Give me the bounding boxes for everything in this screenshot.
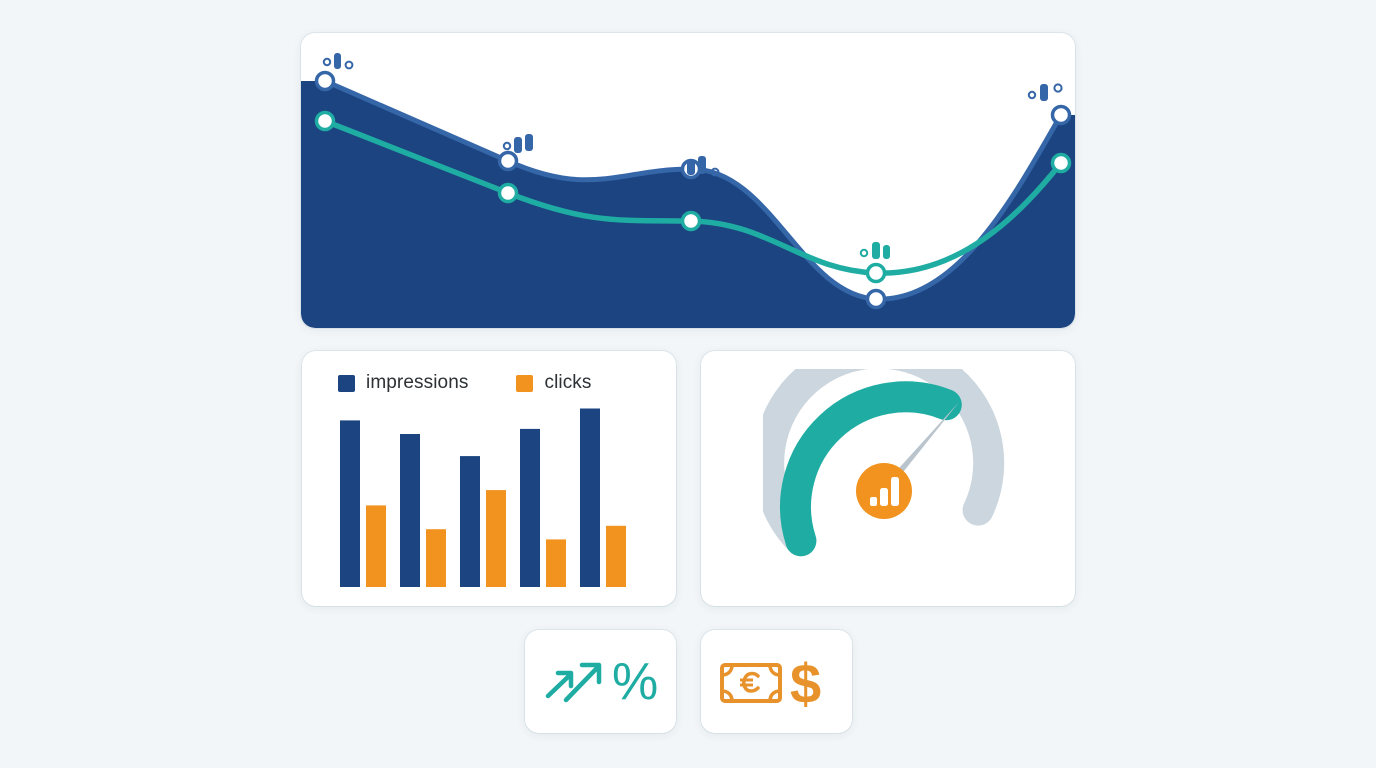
point-badge-5 bbox=[1029, 84, 1062, 101]
data-point-impressions-4[interactable] bbox=[868, 291, 885, 308]
performance-gauge-card[interactable] bbox=[701, 351, 1075, 606]
revenue-card[interactable]: $ bbox=[701, 630, 852, 733]
dollar-sign-icon: $ bbox=[790, 652, 821, 713]
traffic-trend-area-chart-card[interactable] bbox=[301, 33, 1075, 328]
area-series-impressions bbox=[301, 81, 1075, 328]
revenue-icons: $ bbox=[718, 651, 836, 713]
data-point-impressions-2[interactable] bbox=[500, 153, 517, 170]
point-badge-2 bbox=[504, 134, 533, 153]
conversion-rate-icons: % bbox=[542, 651, 660, 713]
euro-banknote-icon bbox=[722, 665, 780, 701]
data-point-clicks-2[interactable] bbox=[500, 185, 517, 202]
bar-impressions-4[interactable] bbox=[520, 429, 540, 587]
impressions-clicks-bar-chart-card[interactable]: impressions clicks bbox=[302, 351, 676, 606]
data-point-clicks-4[interactable] bbox=[868, 265, 885, 282]
point-badge-1 bbox=[324, 53, 353, 69]
bar-clicks-5[interactable] bbox=[606, 526, 626, 587]
bar-clicks-4[interactable] bbox=[546, 539, 566, 587]
data-point-clicks-1[interactable] bbox=[317, 113, 334, 130]
data-point-clicks-3[interactable] bbox=[683, 213, 700, 230]
bar-impressions-1[interactable] bbox=[340, 420, 360, 587]
dashboard-stage: impressions clicks bbox=[0, 0, 1376, 768]
point-badge-4 bbox=[861, 242, 890, 259]
conversion-rate-card[interactable]: % bbox=[525, 630, 676, 733]
bar-clicks-1[interactable] bbox=[366, 505, 386, 587]
bar-chart-plot bbox=[302, 351, 676, 606]
percent-icon: % bbox=[612, 653, 658, 711]
bar-impressions-2[interactable] bbox=[400, 434, 420, 587]
bar-impressions-5[interactable] bbox=[580, 409, 600, 588]
traffic-trend-area-chart bbox=[301, 33, 1075, 328]
data-point-impressions-5[interactable] bbox=[1053, 107, 1070, 124]
bar-clicks-2[interactable] bbox=[426, 529, 446, 587]
trending-up-arrow-icon bbox=[548, 673, 571, 696]
data-point-impressions-1[interactable] bbox=[317, 73, 334, 90]
data-point-clicks-5[interactable] bbox=[1053, 155, 1070, 172]
bar-impressions-3[interactable] bbox=[460, 456, 480, 587]
bar-clicks-3[interactable] bbox=[486, 490, 506, 587]
performance-gauge bbox=[763, 369, 1013, 584]
